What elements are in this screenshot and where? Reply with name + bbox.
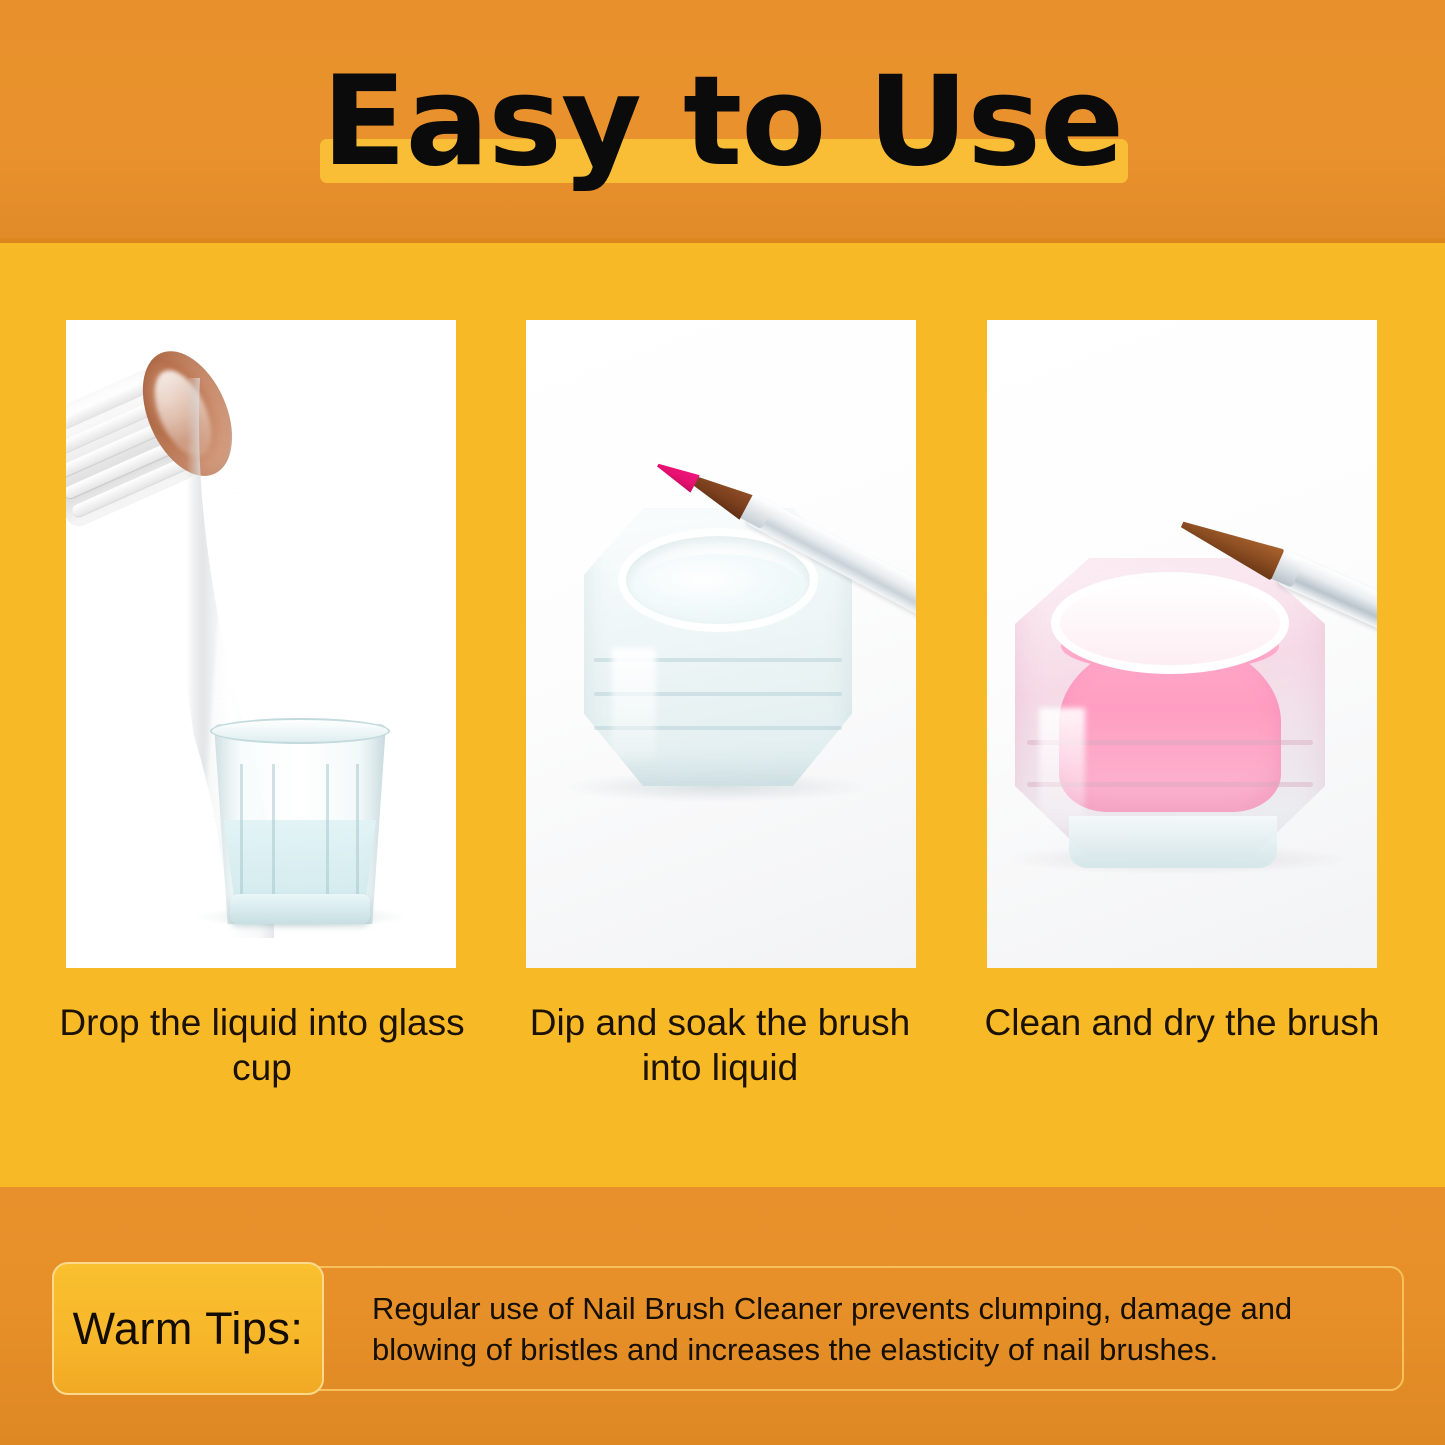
dish-highlight	[612, 648, 656, 758]
infographic-canvas: Easy to Use	[0, 0, 1445, 1445]
warm-tips-text: Regular use of Nail Brush Cleaner preven…	[372, 1288, 1394, 1370]
step-image-2	[526, 320, 916, 968]
warm-tips-label: Warm Tips:	[52, 1262, 324, 1395]
dish-highlight	[1039, 708, 1085, 828]
steps-gallery	[0, 320, 1445, 970]
brush-dip-icon	[526, 320, 916, 968]
cup-facet	[326, 764, 329, 894]
page-title: Easy to Use	[0, 56, 1445, 188]
brush-clean-icon	[987, 320, 1377, 968]
step-caption-3: Clean and dry the brush	[972, 1000, 1392, 1045]
glass-dish-pink	[1015, 558, 1325, 858]
step-caption-1: Drop the liquid into glass cup	[52, 1000, 472, 1090]
cup-rim	[210, 718, 390, 744]
cup-facet	[272, 764, 275, 894]
step-image-3	[987, 320, 1377, 968]
glass-cup	[214, 724, 386, 924]
bottle-pour-icon	[66, 320, 456, 968]
cup-facet	[356, 764, 359, 894]
step-image-1	[66, 320, 456, 968]
cup-base	[230, 894, 370, 924]
header-band: Easy to Use	[0, 0, 1445, 243]
cup-facet	[240, 764, 243, 894]
dish-base	[1069, 816, 1277, 868]
step-caption-2: Dip and soak the brush into liquid	[510, 1000, 930, 1090]
